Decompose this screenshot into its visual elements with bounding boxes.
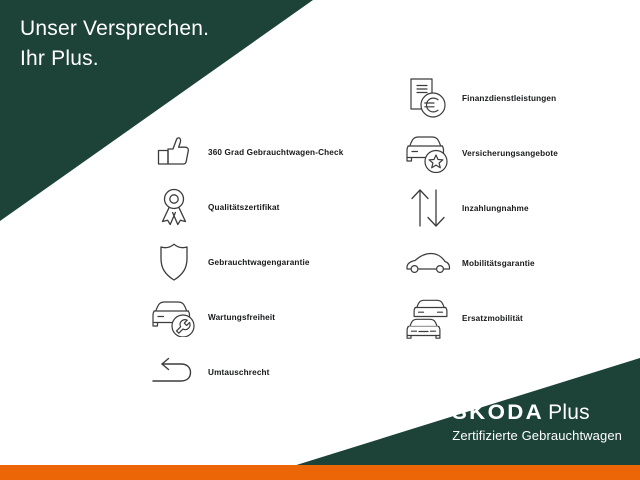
feature-label: 360 Grad Gebrauchtwagen-Check [208,148,343,157]
feature-label: Gebrauchtwagengarantie [208,258,310,267]
return-arrow-icon [148,349,200,395]
thumbs-up-icon [148,129,200,175]
feature-list-right: Finanzdienstleistungen Versicherungsange… [402,72,558,347]
brand-logo: ŠKODA Plus Zertifizierte Gebrauchtwagen [452,401,622,444]
car-wrench-icon [148,294,200,340]
feature-item: Ersatzmobilität [402,292,558,344]
car-side-icon [402,240,454,286]
orange-bottom-bar [0,465,640,480]
page-title: Unser Versprechen. Ihr Plus. [20,14,300,74]
headline-line-1: Unser Versprechen. [20,14,300,44]
feature-item: Wartungsfreiheit [148,291,343,343]
feature-label: Inzahlungnahme [462,204,529,213]
feature-item: Mobilitätsgarantie [402,237,558,289]
feature-label: Qualitätszertifikat [208,203,280,212]
up-down-arrows-icon [402,185,454,231]
feature-item: Qualitätszertifikat [148,181,343,233]
feature-list-left: 360 Grad Gebrauchtwagen-Check Qualitätsz… [148,126,343,401]
feature-label: Versicherungsangebote [462,149,558,158]
logo-plus-word: Plus [548,401,590,425]
feature-label: Wartungsfreiheit [208,313,275,322]
document-euro-icon [402,75,454,121]
logo-wordmark-row: ŠKODA Plus [452,401,622,425]
award-rosette-icon [148,184,200,230]
feature-label: Mobilitätsgarantie [462,259,535,268]
two-cars-icon [402,295,454,341]
feature-item: Versicherungsangebote [402,127,558,179]
feature-label: Finanzdienstleistungen [462,94,556,103]
feature-item: Finanzdienstleistungen [402,72,558,124]
shield-icon [148,239,200,285]
promo-banner: Unser Versprechen. Ihr Plus. 360 Grad Ge… [0,0,640,480]
feature-label: Umtauschrecht [208,368,270,377]
logo-subtitle: Zertifizierte Gebrauchtwagen [452,427,622,444]
headline-line-2: Ihr Plus. [20,44,300,74]
feature-item: 360 Grad Gebrauchtwagen-Check [148,126,343,178]
skoda-wordmark: ŠKODA [452,401,544,425]
car-star-icon [402,130,454,176]
feature-item: Umtauschrecht [148,346,343,398]
feature-label: Ersatzmobilität [462,314,523,323]
feature-item: Inzahlungnahme [402,182,558,234]
feature-item: Gebrauchtwagengarantie [148,236,343,288]
